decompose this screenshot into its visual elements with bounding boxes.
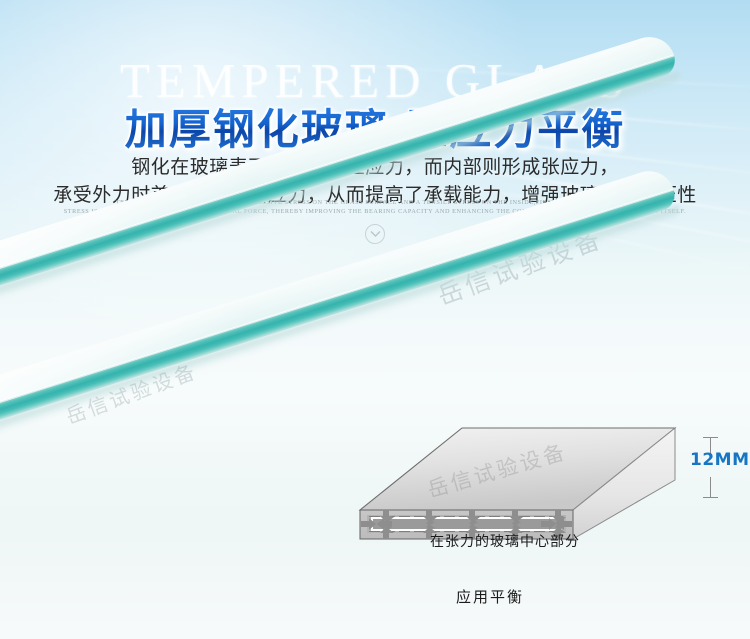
thickness-label: 12MM <box>690 450 750 470</box>
tension-core-label: 在张力的玻璃中心部分 <box>390 531 620 551</box>
dimension-cap-bottom <box>703 497 718 498</box>
diagram-caption: 应用平衡 <box>345 586 635 607</box>
dimension-cap-top <box>703 437 718 438</box>
tempered-glass-banner: TEMPERED GLASS 加厚钢化玻璃 压应力平衡 钢化在玻璃表面形成均匀压… <box>0 0 750 639</box>
dimension-line-lower <box>710 477 711 498</box>
tension-core <box>372 518 561 530</box>
